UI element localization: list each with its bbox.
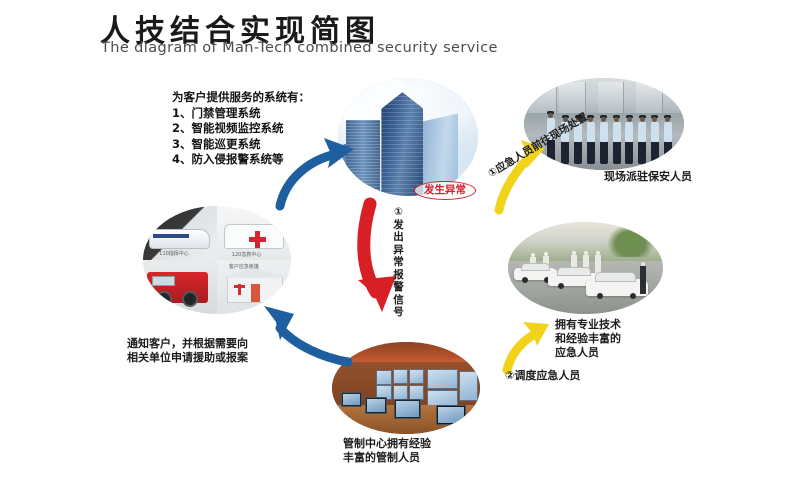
guards-building-3	[598, 82, 625, 113]
caption-control-center: 管制中心拥有经验 丰富的管制人员	[343, 437, 431, 465]
guard-figure	[586, 117, 595, 165]
rescue-image: 110指挥中心 120急救中心 客户应急帐篷	[143, 206, 291, 314]
guards-building-1	[530, 82, 557, 113]
label-shelter: 客户应急帐篷	[229, 263, 259, 270]
photo-control-center	[332, 342, 480, 434]
guards-building-4	[636, 82, 663, 113]
photo-rescue-collage: 110指挥中心 120急救中心 客户应急帐篷	[143, 206, 291, 314]
wall-screen	[393, 369, 408, 385]
guard-figure	[663, 117, 672, 165]
wall-screen	[409, 369, 424, 385]
flow-label-dispatch: ②调度应急人员	[505, 369, 580, 383]
wall-screen-side	[459, 371, 477, 401]
arrow-red-alarm-signal	[352, 198, 422, 314]
wall-screen	[376, 370, 391, 386]
diagram-canvas: 人技结合实现简图 The diagram of Man-Tech combine…	[0, 0, 802, 477]
patrol-cars-image	[508, 222, 663, 314]
cars-tree	[607, 224, 654, 257]
guard-figure	[625, 117, 634, 165]
wall-screen	[409, 385, 424, 400]
building-main-skyscraper	[381, 92, 423, 196]
wall-screen-large	[427, 369, 459, 389]
flow-label-alarm-signal: ①发出异常报警信号	[392, 206, 405, 319]
arrow-blue-to-rescue	[262, 300, 354, 372]
operator-monitor	[365, 397, 388, 414]
guard-figure	[599, 117, 608, 165]
quadrant-ambulance: 120急救中心	[217, 206, 291, 260]
officer-figure	[595, 251, 602, 274]
wall-screen	[393, 385, 408, 400]
guard-figure	[612, 117, 621, 165]
photo-onsite-guards	[524, 78, 684, 170]
operator-monitor	[341, 392, 362, 407]
caption-notify-client: 通知客户，并根据需要向 相关单位申请援助或报案	[127, 337, 248, 365]
photo-patrol-cars	[508, 222, 663, 314]
quadrant-firetruck	[143, 260, 217, 314]
officer-standing	[638, 262, 647, 293]
label-police-center: 110指挥中心	[159, 250, 189, 257]
arrow-blue-to-tower	[276, 132, 362, 212]
arrow-yellow-dispatch	[495, 318, 557, 374]
operator-monitor	[436, 405, 466, 425]
police-car	[149, 229, 210, 249]
guards-building-2	[559, 82, 586, 113]
emergency-tent	[227, 276, 282, 303]
control-room-image	[332, 342, 480, 434]
guard-figure	[638, 117, 647, 165]
guards-image	[524, 78, 684, 170]
label-ambulance-center: 120急救中心	[232, 251, 262, 258]
operator-monitor	[394, 399, 421, 418]
caption-emergency-personnel: 拥有专业技术 和经验丰富的 应急人员	[555, 318, 621, 360]
guard-figure	[650, 117, 659, 165]
caption-onsite-guards: 现场派驻保安人员	[604, 170, 692, 184]
page-subtitle: The diagram of Man-Tech combined securit…	[101, 40, 498, 56]
quadrant-police: 110指挥中心	[143, 206, 217, 260]
ambulance-vehicle	[224, 224, 284, 249]
status-badge-anomaly: 发生异常	[414, 181, 476, 200]
fire-truck	[147, 272, 208, 303]
